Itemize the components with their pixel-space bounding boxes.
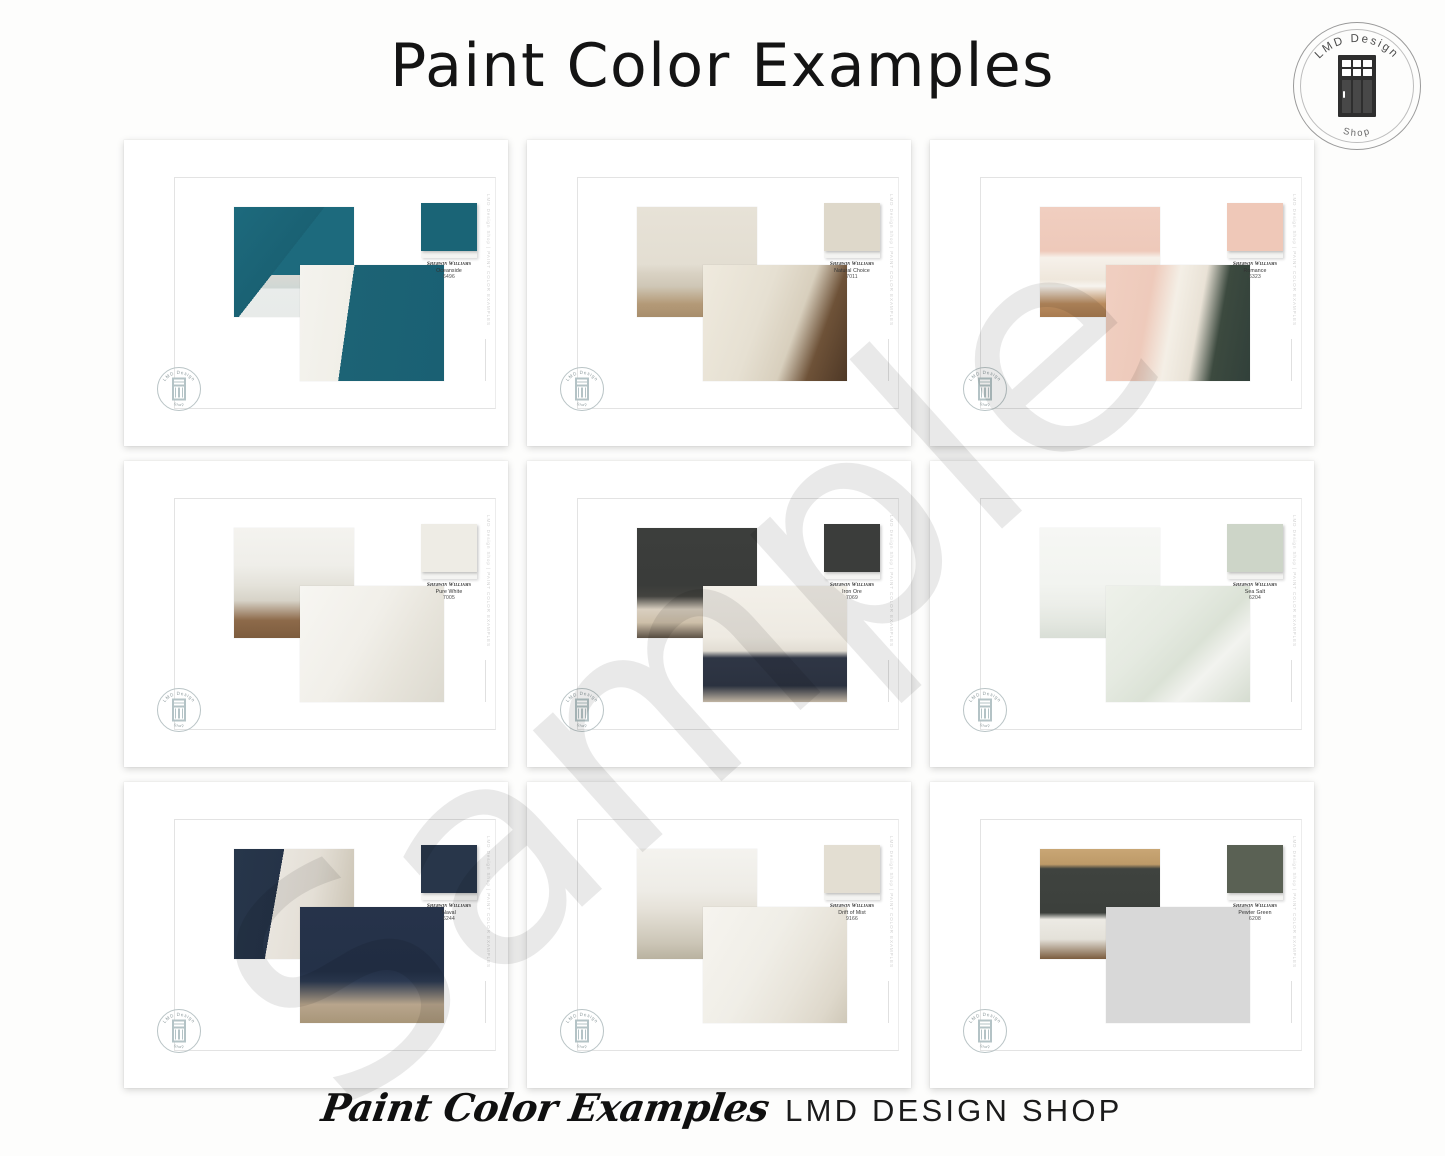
card-side-text: LMD Design Shop | PAINT COLOR EXAMPLES — [889, 515, 894, 658]
paint-color-code: 6323 — [1227, 274, 1283, 280]
paint-example-card[interactable]: Sherwin Williams Pewter Green 6208 LMD D… — [930, 782, 1314, 1088]
paint-chip-label: Sherwin Williams Naval 6244 — [421, 903, 477, 922]
door-icon — [172, 1019, 186, 1042]
paint-chip[interactable]: Sherwin Williams Iron Ore 7069 — [824, 524, 880, 601]
paint-chip-color — [421, 524, 477, 572]
door-icon — [1338, 55, 1376, 117]
paint-chip[interactable]: Sherwin Williams Sea Salt 6204 — [1227, 524, 1283, 601]
card-side-rule — [1291, 339, 1292, 381]
card-inner-frame: Sherwin Williams Naval 6244 LMD Design S… — [174, 819, 496, 1052]
door-icon — [575, 377, 589, 400]
paint-color-code: 7005 — [421, 595, 477, 601]
card-side-text: LMD Design Shop | PAINT COLOR EXAMPLES — [889, 194, 894, 337]
paint-chip-base — [421, 572, 477, 579]
svg-text:Shop: Shop — [979, 723, 991, 728]
card-logo-badge: LMD Design Shop — [963, 367, 1007, 411]
card-inner-frame: Sherwin Williams Oceanside 6496 LMD Desi… — [174, 177, 496, 410]
paint-example-card[interactable]: Sherwin Williams Drift of Mist 9166 LMD … — [527, 782, 911, 1088]
footer-shop-text: LMD DESIGN SHOP — [785, 1093, 1122, 1129]
paint-color-code: 6244 — [421, 916, 477, 922]
paint-color-code: 6204 — [1227, 595, 1283, 601]
card-side-text: LMD Design Shop | PAINT COLOR EXAMPLES — [486, 836, 491, 979]
door-icon — [978, 377, 992, 400]
paint-color-code: 9166 — [824, 916, 880, 922]
paint-example-card[interactable]: Sherwin Williams Romance 6323 LMD Design… — [930, 140, 1314, 446]
room-photo-secondary — [300, 265, 444, 380]
door-icon — [575, 698, 589, 721]
footer-script-text: Paint Color Examples — [319, 1085, 773, 1130]
paint-chip-base — [1227, 893, 1283, 900]
paint-chip[interactable]: Sherwin Williams Natural Choice 7011 — [824, 203, 880, 280]
room-photo-secondary — [1106, 907, 1250, 1022]
door-icon — [172, 698, 186, 721]
card-side-rule — [888, 981, 889, 1023]
paint-example-card[interactable]: Sherwin Williams Oceanside 6496 LMD Desi… — [124, 140, 508, 446]
paint-example-card[interactable]: Sherwin Williams Pure White 7005 LMD Des… — [124, 461, 508, 767]
paint-chip-label: Sherwin Williams Oceanside 6496 — [421, 261, 477, 280]
paint-chip-base — [824, 251, 880, 258]
card-side-text: LMD Design Shop | PAINT COLOR EXAMPLES — [1292, 836, 1297, 979]
paint-chip[interactable]: Sherwin Williams Pure White 7005 — [421, 524, 477, 601]
svg-text:Shop: Shop — [173, 1044, 185, 1049]
door-windows — [1342, 60, 1372, 76]
card-inner-frame: Sherwin Williams Romance 6323 LMD Design… — [980, 177, 1302, 410]
paint-chip-color — [824, 524, 880, 572]
paint-chip-color — [824, 845, 880, 893]
card-side-rule — [485, 339, 486, 381]
door-panels — [1342, 80, 1372, 113]
card-inner-frame: Sherwin Williams Drift of Mist 9166 LMD … — [577, 819, 899, 1052]
card-inner-frame: Sherwin Williams Natural Choice 7011 LMD… — [577, 177, 899, 410]
svg-text:Shop: Shop — [173, 723, 185, 728]
card-side-rule — [888, 660, 889, 702]
card-inner-frame: Sherwin Williams Pure White 7005 LMD Des… — [174, 498, 496, 731]
paint-chip[interactable]: Sherwin Williams Oceanside 6496 — [421, 203, 477, 280]
card-logo-badge: LMD Design Shop — [157, 688, 201, 732]
card-logo-badge: LMD Design Shop — [560, 1009, 604, 1053]
svg-text:Shop: Shop — [173, 402, 185, 407]
paint-example-card[interactable]: Sherwin Williams Natural Choice 7011 LMD… — [527, 140, 911, 446]
svg-text:Shop: Shop — [576, 1044, 588, 1049]
card-inner-frame: Sherwin Williams Pewter Green 6208 LMD D… — [980, 819, 1302, 1052]
paint-color-code: 6208 — [1227, 916, 1283, 922]
paint-chip-color — [421, 845, 477, 893]
paint-chip[interactable]: Sherwin Williams Naval 6244 — [421, 845, 477, 922]
badge-sub-text: Shop — [1342, 126, 1372, 139]
card-side-text: LMD Design Shop | PAINT COLOR EXAMPLES — [889, 836, 894, 979]
paint-chip-base — [824, 893, 880, 900]
svg-text:Shop: Shop — [576, 723, 588, 728]
paint-chip-label: Sherwin Williams Iron Ore 7069 — [824, 582, 880, 601]
paint-color-code: 7069 — [824, 595, 880, 601]
paint-chip-base — [824, 572, 880, 579]
card-logo-badge: LMD Design Shop — [560, 688, 604, 732]
paint-brand: Sherwin Williams — [421, 582, 477, 589]
door-icon — [978, 1019, 992, 1042]
card-side-text: LMD Design Shop | PAINT COLOR EXAMPLES — [1292, 194, 1297, 337]
paint-chip-label: Sherwin Williams Natural Choice 7011 — [824, 261, 880, 280]
paint-chip-color — [421, 203, 477, 251]
room-photo-secondary — [300, 907, 444, 1022]
paint-chip[interactable]: Sherwin Williams Drift of Mist 9166 — [824, 845, 880, 922]
card-logo-badge: LMD Design Shop — [963, 1009, 1007, 1053]
door-icon — [978, 698, 992, 721]
page-footer: Paint Color Examples LMD DESIGN SHOP — [0, 1085, 1445, 1130]
page-title: Paint Color Examples — [0, 36, 1445, 96]
room-photo-secondary — [1106, 586, 1250, 701]
room-photo-secondary — [703, 586, 847, 701]
card-logo-badge: LMD Design Shop — [963, 688, 1007, 732]
door-icon — [575, 1019, 589, 1042]
paint-chip-label: Sherwin Williams Sea Salt 6204 — [1227, 582, 1283, 601]
paint-chip-color — [1227, 203, 1283, 251]
paint-brand: Sherwin Williams — [421, 903, 477, 910]
brand-logo-badge: LMD Design Shop — [1293, 22, 1421, 150]
paint-chip-label: Sherwin Williams Pure White 7005 — [421, 582, 477, 601]
card-side-text: LMD Design Shop | PAINT COLOR EXAMPLES — [486, 515, 491, 658]
paint-chip-base — [421, 893, 477, 900]
paint-color-code: 6496 — [421, 274, 477, 280]
paint-brand: Sherwin Williams — [824, 903, 880, 910]
svg-text:Shop: Shop — [979, 402, 991, 407]
card-side-rule — [888, 339, 889, 381]
card-side-rule — [485, 660, 486, 702]
room-photo-secondary — [1106, 265, 1250, 380]
paint-brand: Sherwin Williams — [824, 261, 880, 268]
paint-brand: Sherwin Williams — [1227, 582, 1283, 589]
card-side-text: LMD Design Shop | PAINT COLOR EXAMPLES — [486, 194, 491, 337]
room-photo-secondary — [703, 265, 847, 380]
card-inner-frame: Sherwin Williams Sea Salt 6204 LMD Desig… — [980, 498, 1302, 731]
card-inner-frame: Sherwin Williams Iron Ore 7069 LMD Desig… — [577, 498, 899, 731]
paint-chip-label: Sherwin Williams Romance 6323 — [1227, 261, 1283, 280]
paint-example-card[interactable]: Sherwin Williams Iron Ore 7069 LMD Desig… — [527, 461, 911, 767]
paint-chip-color — [824, 203, 880, 251]
room-photo-secondary — [703, 907, 847, 1022]
paint-color-code: 7011 — [824, 274, 880, 280]
room-photo-secondary — [300, 586, 444, 701]
paint-chip-label: Sherwin Williams Drift of Mist 9166 — [824, 903, 880, 922]
paint-chip-base — [421, 251, 477, 258]
card-side-text: LMD Design Shop | PAINT COLOR EXAMPLES — [1292, 515, 1297, 658]
page-header: Paint Color Examples LMD Design Shop — [0, 0, 1445, 140]
paint-chip-color — [1227, 845, 1283, 893]
svg-text:Shop: Shop — [979, 1044, 991, 1049]
paint-brand: Sherwin Williams — [421, 261, 477, 268]
svg-text:Shop: Shop — [576, 402, 588, 407]
paint-brand: Sherwin Williams — [824, 582, 880, 589]
door-icon — [172, 377, 186, 400]
paint-example-card[interactable]: Sherwin Williams Sea Salt 6204 LMD Desig… — [930, 461, 1314, 767]
paint-chip-color — [1227, 524, 1283, 572]
paint-chip[interactable]: Sherwin Williams Romance 6323 — [1227, 203, 1283, 280]
card-logo-badge: LMD Design Shop — [157, 367, 201, 411]
paint-chip[interactable]: Sherwin Williams Pewter Green 6208 — [1227, 845, 1283, 922]
card-side-rule — [1291, 981, 1292, 1023]
paint-brand: Sherwin Williams — [1227, 261, 1283, 268]
card-logo-badge: LMD Design Shop — [560, 367, 604, 411]
paint-brand: Sherwin Williams — [1227, 903, 1283, 910]
card-logo-badge: LMD Design Shop — [157, 1009, 201, 1053]
card-side-rule — [1291, 660, 1292, 702]
paint-chip-base — [1227, 251, 1283, 258]
paint-chip-base — [1227, 572, 1283, 579]
paint-example-card[interactable]: Sherwin Williams Naval 6244 LMD Design S… — [124, 782, 508, 1088]
paint-chip-label: Sherwin Williams Pewter Green 6208 — [1227, 903, 1283, 922]
paint-example-grid: Sherwin Williams Oceanside 6496 LMD Desi… — [124, 140, 1322, 1088]
card-side-rule — [485, 981, 486, 1023]
